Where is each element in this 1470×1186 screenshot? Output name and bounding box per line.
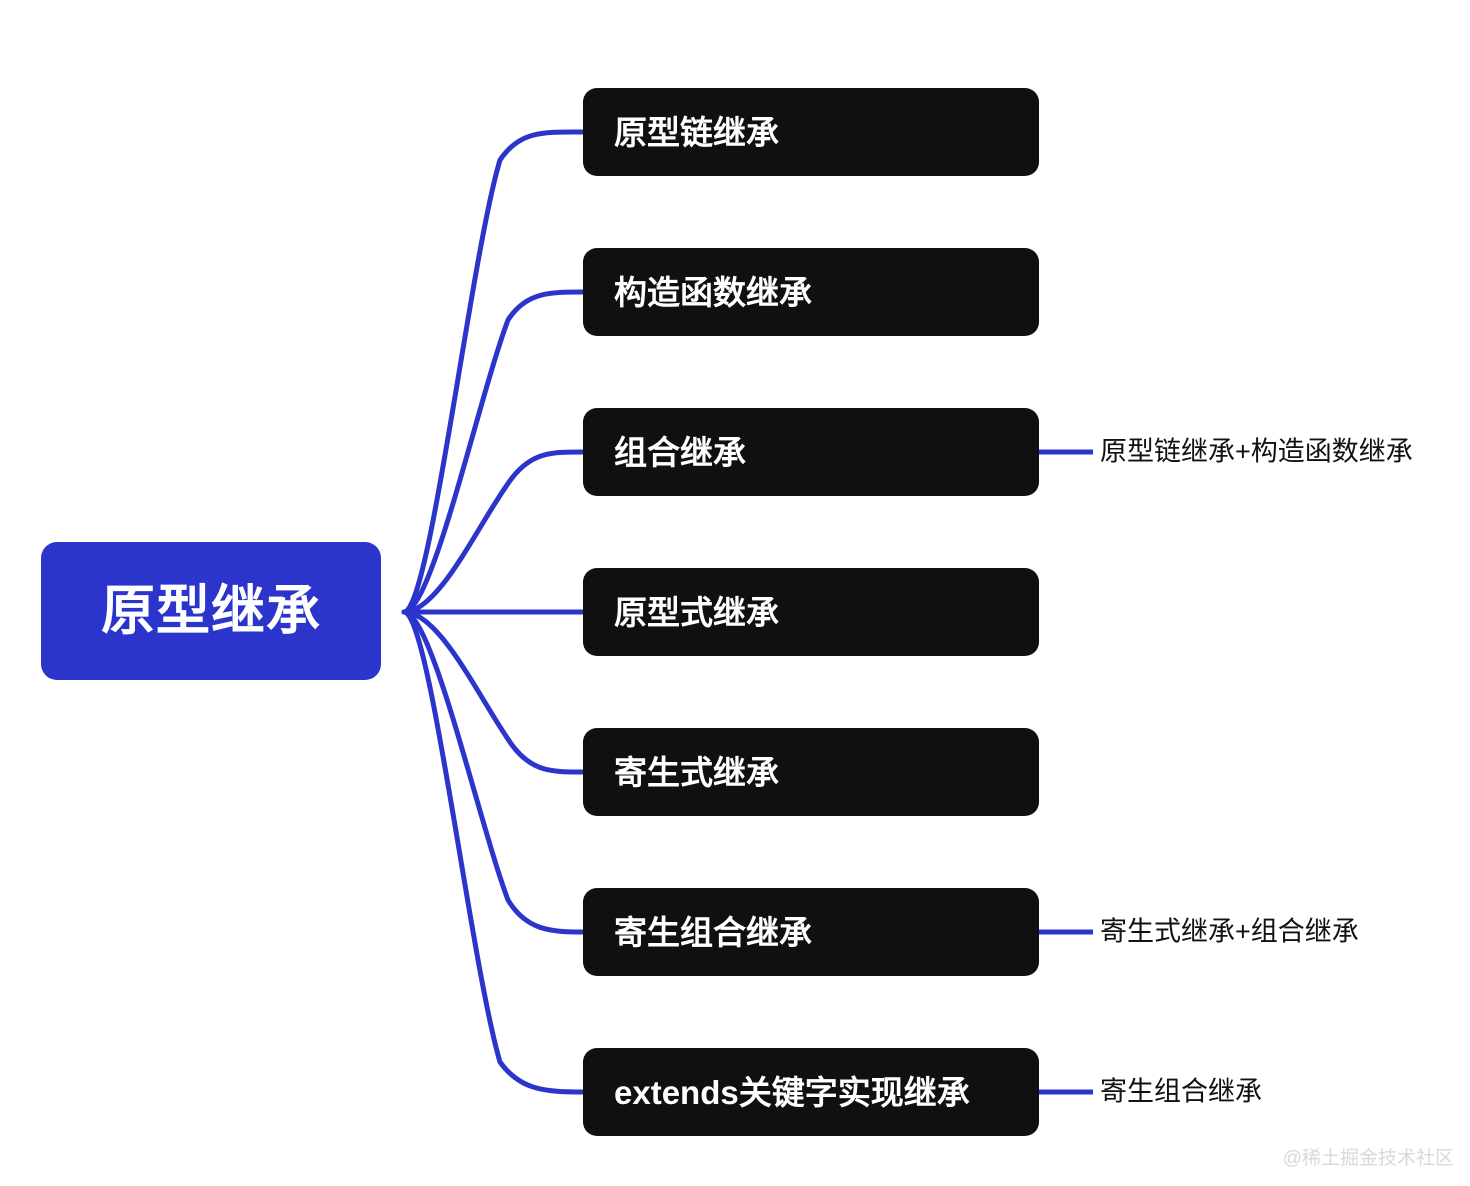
edge-to-child-5 <box>404 612 583 772</box>
child-node-5[interactable]: 寄生式继承 <box>583 728 1039 816</box>
edge-to-child-7 <box>404 612 583 1092</box>
edge-to-child-3 <box>404 452 583 612</box>
child-node-3-note: 原型链继承+构造函数继承 <box>1100 439 1413 466</box>
watermark: @稀土掘金技术社区 <box>1283 1149 1454 1168</box>
root-node-label: 原型继承 <box>101 584 321 638</box>
root-node[interactable]: 原型继承 <box>41 542 381 680</box>
child-node-1-label: 原型链继承 <box>614 116 779 149</box>
edge-to-child-1 <box>404 132 583 612</box>
child-node-2-label: 构造函数继承 <box>614 276 812 309</box>
child-node-6-label: 寄生组合继承 <box>614 916 812 949</box>
child-node-6[interactable]: 寄生组合继承 <box>583 888 1039 976</box>
child-node-7-note: 寄生组合继承 <box>1100 1079 1262 1106</box>
child-node-4-label: 原型式继承 <box>614 596 779 629</box>
child-node-7[interactable]: extends关键字实现继承 <box>583 1048 1039 1136</box>
child-node-3-label: 组合继承 <box>614 436 746 469</box>
child-node-4[interactable]: 原型式继承 <box>583 568 1039 656</box>
child-node-5-label: 寄生式继承 <box>614 756 779 789</box>
child-node-7-label: extends关键字实现继承 <box>614 1076 970 1109</box>
edge-to-child-2 <box>404 292 583 612</box>
child-node-3[interactable]: 组合继承 <box>583 408 1039 496</box>
edge-to-child-6 <box>404 612 583 932</box>
child-node-2[interactable]: 构造函数继承 <box>583 248 1039 336</box>
mindmap-canvas: 原型继承 原型链继承 构造函数继承 组合继承 原型链继承+构造函数继承 原型式继… <box>0 0 1470 1186</box>
child-node-6-note: 寄生式继承+组合继承 <box>1100 919 1359 946</box>
child-node-1[interactable]: 原型链继承 <box>583 88 1039 176</box>
